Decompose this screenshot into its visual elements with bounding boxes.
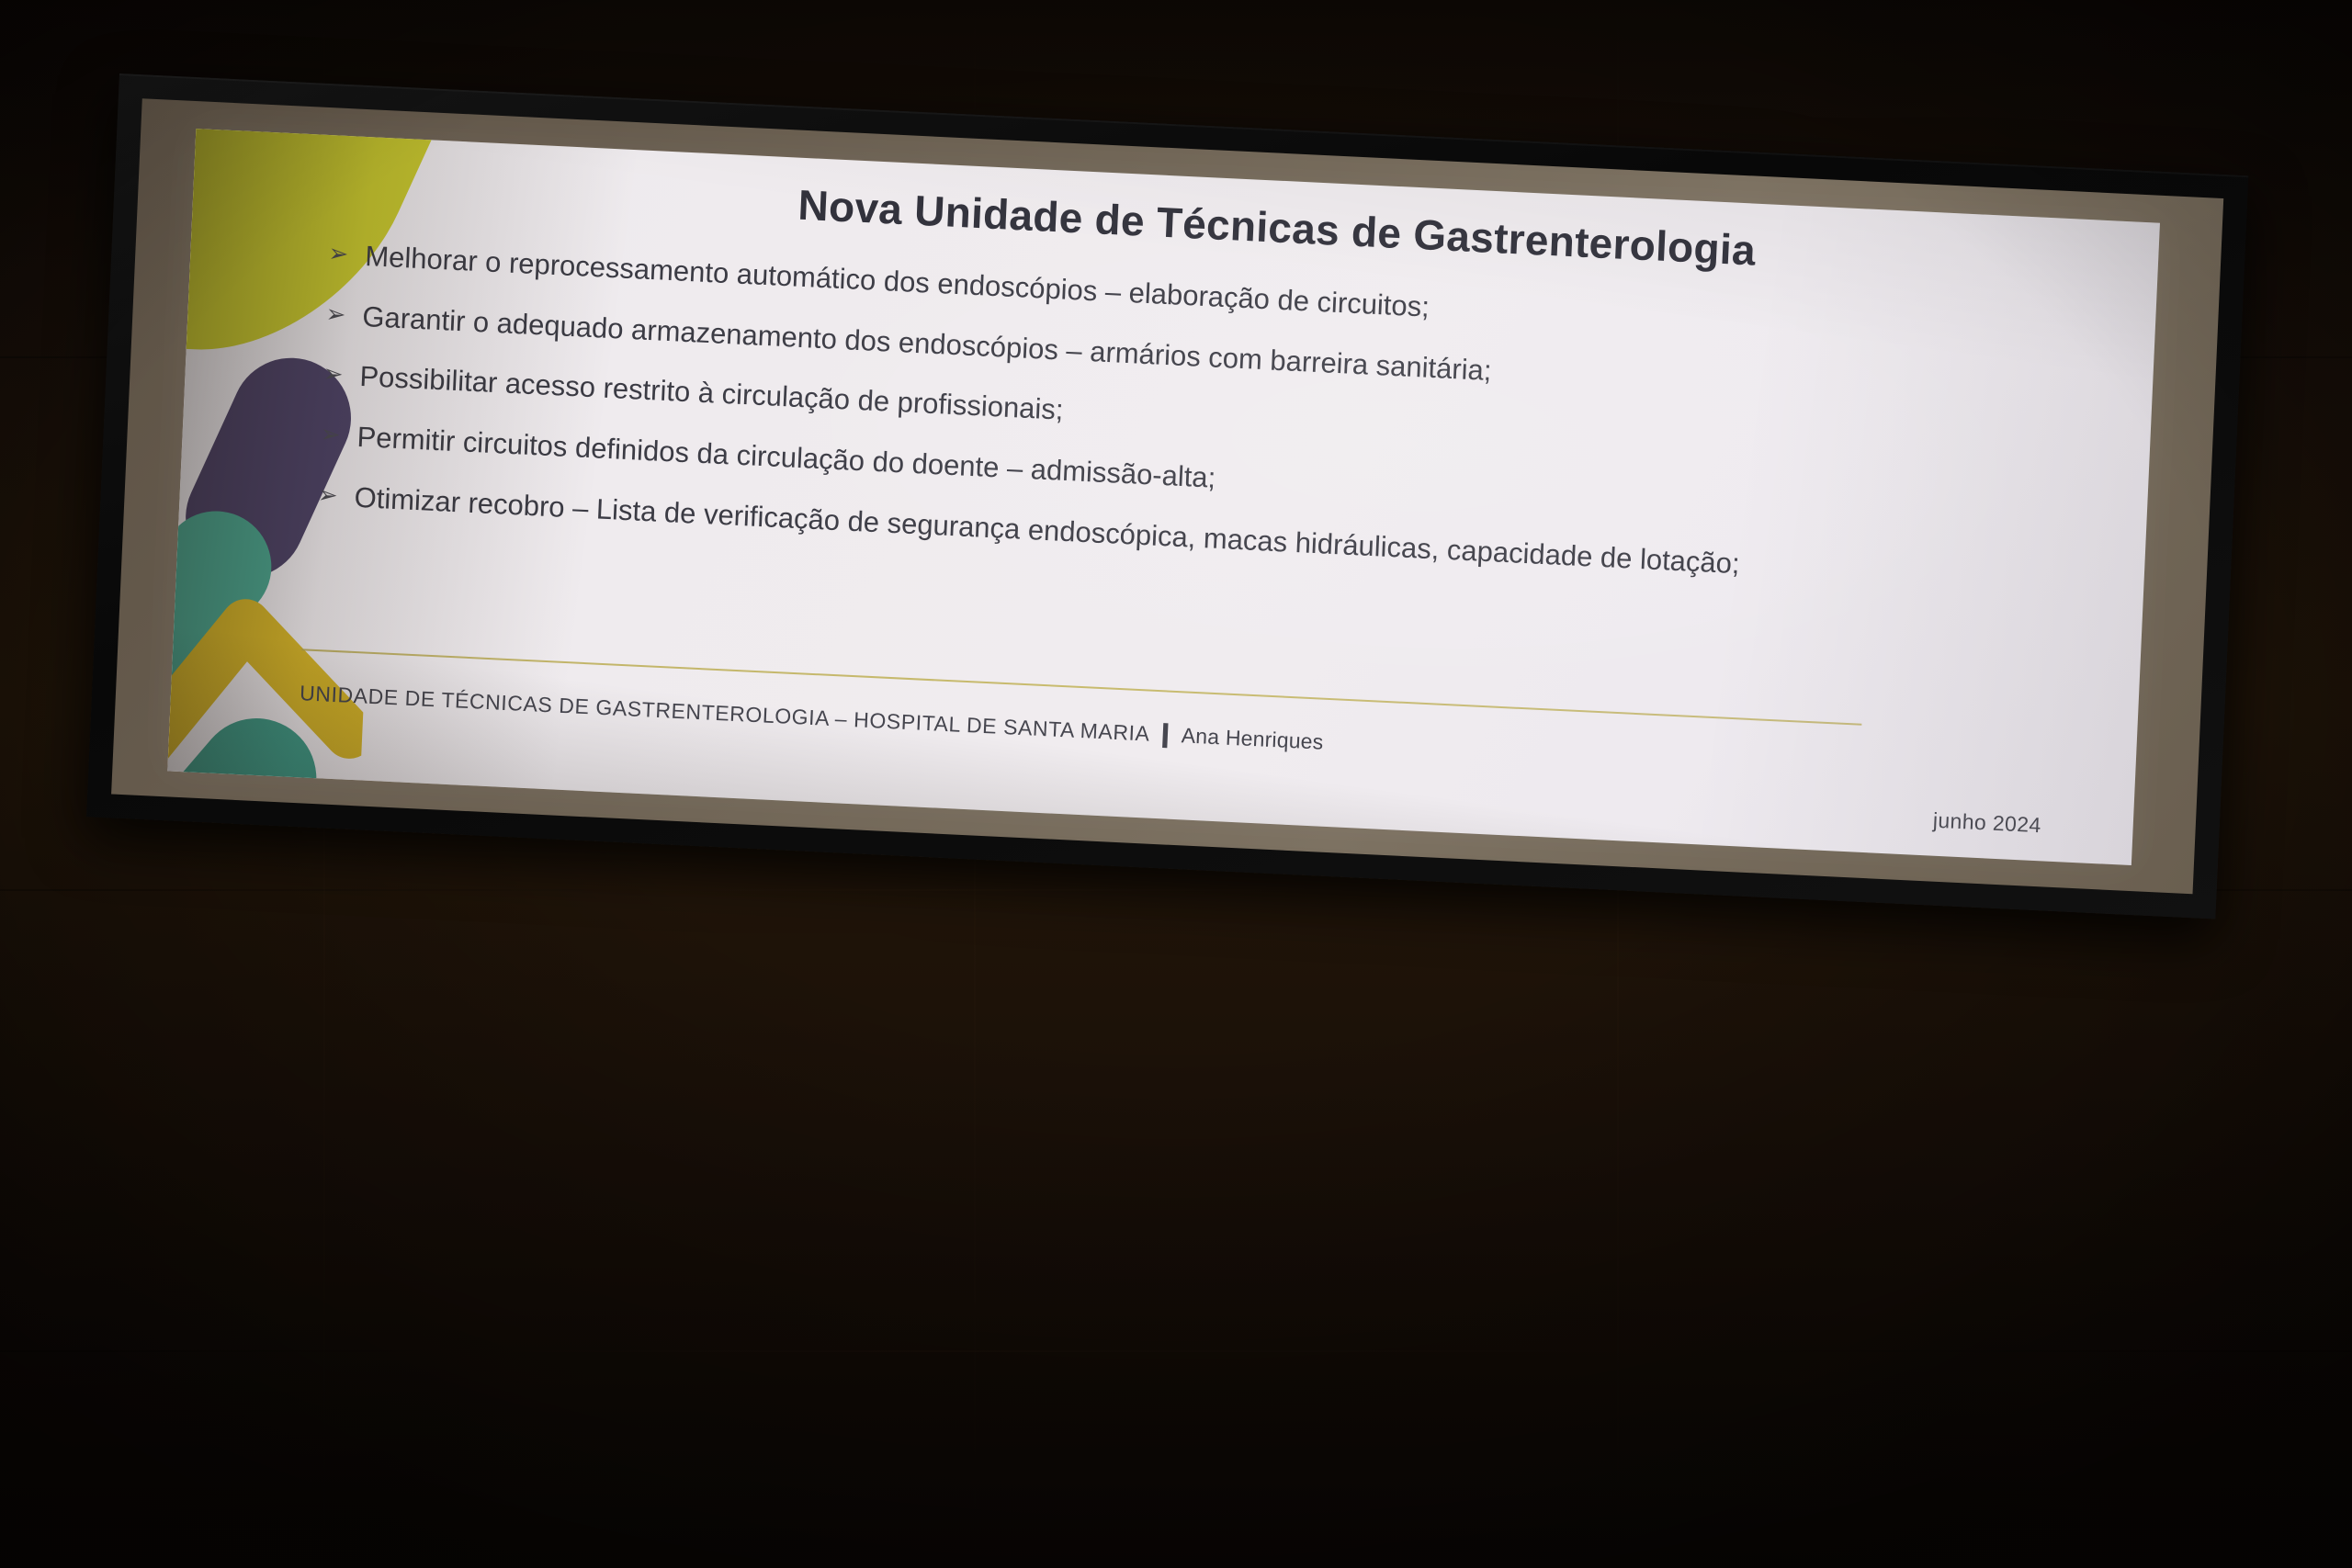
- slide-date: junho 2024: [1932, 808, 2041, 839]
- projection-screen: Nova Unidade de Técnicas de Gastrenterol…: [86, 73, 2248, 919]
- screen-surface: Nova Unidade de Técnicas de Gastrenterol…: [111, 98, 2223, 894]
- footer-author: Ana Henriques: [1181, 723, 1324, 753]
- presentation-slide: Nova Unidade de Técnicas de Gastrenterol…: [167, 129, 2160, 865]
- footer-separator: ❙: [1149, 719, 1182, 749]
- arrow-bullet-icon: ➢: [317, 478, 356, 514]
- footer-organization: UNIDADE DE TÉCNICAS DE GASTRENTEROLOGIA …: [300, 681, 1150, 745]
- screen-frame: Nova Unidade de Técnicas de Gastrenterol…: [86, 73, 2248, 919]
- arrow-bullet-icon: ➢: [328, 236, 367, 273]
- arrow-bullet-icon: ➢: [322, 356, 361, 393]
- arrow-bullet-icon: ➢: [325, 297, 364, 333]
- arrow-bullet-icon: ➢: [320, 417, 358, 454]
- bullet-list: ➢ Melhorar o reprocessamento automático …: [316, 236, 2009, 618]
